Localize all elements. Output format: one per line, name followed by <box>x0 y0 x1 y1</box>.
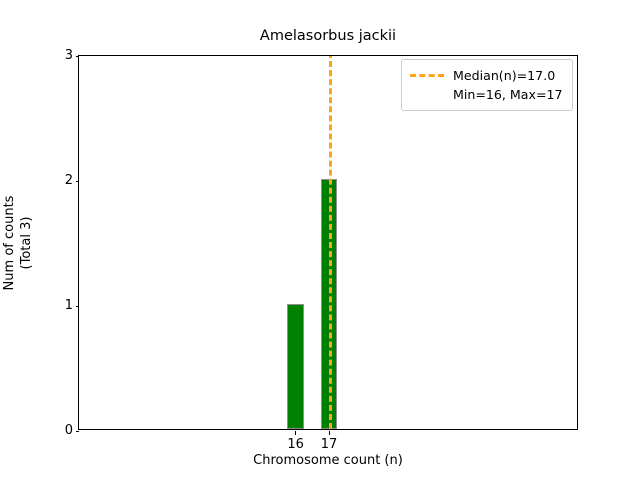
y-axis-label-line-2: (Total 3) <box>18 195 35 290</box>
y-tick-mark <box>76 431 80 432</box>
y-tick-mark <box>76 181 80 182</box>
x-tick-label: 17 <box>299 437 359 453</box>
plot-axes: 32101617 <box>78 55 578 430</box>
chart-title: Amelasorbus jackii <box>78 28 578 44</box>
y-tick-mark <box>76 306 80 307</box>
chart-legend: Median(n)=17.0Min=16, Max=17 <box>401 59 573 111</box>
y-tick-label: 0 <box>65 422 73 440</box>
legend-dashed-line-icon <box>410 74 444 77</box>
legend-swatch-spacer <box>410 93 444 96</box>
y-tick-label: 1 <box>65 297 73 315</box>
x-tick-mark <box>329 431 330 435</box>
y-axis-label: Num of counts (Total 3) <box>1 195 35 290</box>
legend-label: Min=16, Max=17 <box>453 85 563 104</box>
y-tick-label: 3 <box>65 47 73 65</box>
matplotlib-figure: Amelasorbus jackii Num of counts (Total … <box>0 0 640 480</box>
y-axis-label-container: Num of counts (Total 3) <box>0 55 36 430</box>
plot-area <box>79 56 577 429</box>
x-axis-label: Chromosome count (n) <box>78 453 578 468</box>
median-line <box>329 56 332 429</box>
legend-item-1: Min=16, Max=17 <box>410 85 564 104</box>
y-axis-label-line-1: Num of counts <box>2 195 17 290</box>
legend-label: Median(n)=17.0 <box>453 66 555 85</box>
bar-16 <box>287 304 304 429</box>
y-tick-mark <box>76 56 80 57</box>
y-tick-label: 2 <box>65 172 73 190</box>
legend-item-0: Median(n)=17.0 <box>410 66 564 85</box>
x-tick-mark <box>295 431 296 435</box>
